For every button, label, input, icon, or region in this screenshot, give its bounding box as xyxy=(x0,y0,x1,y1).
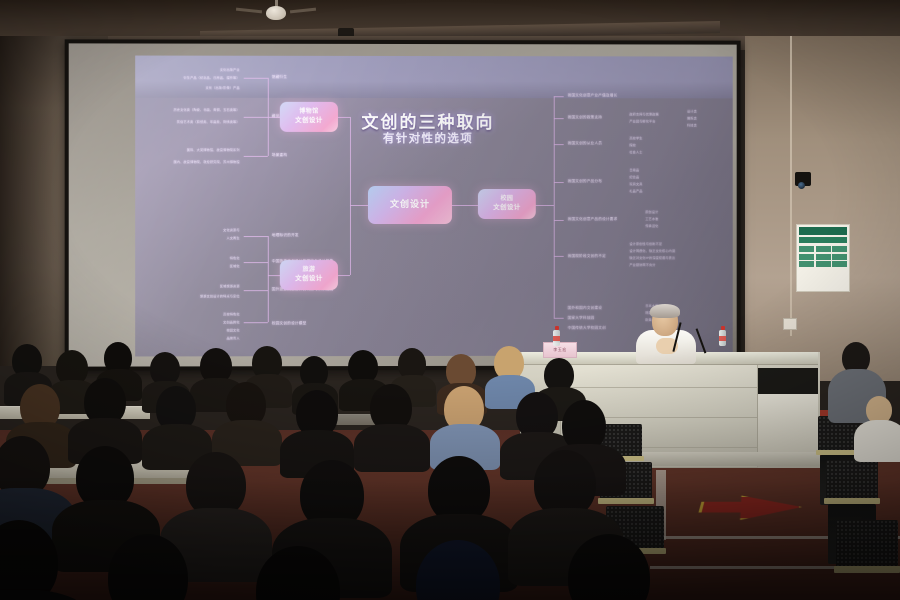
mindmap-node-tourism-line1: 旅游 xyxy=(302,267,315,275)
wall-poster xyxy=(796,224,850,292)
slide-text-r5-c3: 传承活化 xyxy=(645,224,658,228)
slide-text-bot-g2-l2: 区域化 xyxy=(175,264,239,268)
podium-recess xyxy=(756,368,818,394)
wire-top-g2 xyxy=(244,117,268,118)
slide-label-r1: 我国文化创意产业产值及增长 xyxy=(568,93,618,98)
slide-text-r2-g3: 科技类 xyxy=(687,123,697,127)
slide-text-r5-c1: 原创设计 xyxy=(645,210,658,214)
wire-bottom-group-spine xyxy=(268,236,269,322)
wire-to-top-node xyxy=(338,117,350,118)
mindmap-node-tourism: 旅游 文创设计 xyxy=(280,260,338,290)
wire-left-spine xyxy=(350,117,351,275)
slide-text-bot-g3-l1: 区域旅游资源 xyxy=(155,284,239,288)
wire-r7 xyxy=(554,318,564,319)
slide-text-r4-c2: 纪念品 xyxy=(629,175,639,179)
slide-text-r6-c3: 缺乏对文化IP的深度挖掘与表达 xyxy=(629,256,675,260)
slide-text-bot-g3-l2: 旅游文创设计的特点与定位 xyxy=(155,294,239,298)
podium-side-panel xyxy=(756,394,818,454)
wire-r2 xyxy=(554,118,564,119)
slide-label-r2: 我国文创的政策支持 xyxy=(568,115,602,120)
wire-bot-g3 xyxy=(244,290,268,291)
slide-text-r6-c1: 设计原创性与创新不足 xyxy=(629,242,662,246)
lecture-hall-photo: 文创的三种取向 有针对性的选项 xyxy=(0,0,900,600)
slide-label-r5: 我国文化创意产品的设计要求 xyxy=(568,217,618,222)
ceiling-fan-icon xyxy=(258,0,294,24)
slide-label-r6: 我国现阶段文创的不足 xyxy=(568,254,606,259)
wire-r5 xyxy=(554,220,564,221)
poster-title-bar xyxy=(799,227,847,235)
wire-center-right xyxy=(452,205,478,206)
slide-text-top-g1-i2: 衍生产品（纪念品、日用品、摆件等） xyxy=(151,76,239,80)
slide-text-r3-c2: 院校 xyxy=(629,143,636,147)
mindmap-node-campus-line1: 校园 xyxy=(500,196,513,203)
speaker-person xyxy=(634,306,698,360)
slide-text-r6-c4: 产业链协同不充分 xyxy=(629,263,655,267)
seat-back xyxy=(836,520,898,568)
wire-bot-g1 xyxy=(244,236,268,237)
slide-text-bot-g4-l3: 校园文化 xyxy=(179,328,239,332)
slide-text-r4-c4: 礼品产品 xyxy=(629,189,642,193)
cable-conduit xyxy=(790,36,792,336)
mindmap-center-node: 文创设计 xyxy=(368,186,452,224)
seat-armrest xyxy=(834,566,900,573)
water-bottle-left xyxy=(553,326,560,346)
wire-r3 xyxy=(554,144,564,145)
wall-right xyxy=(745,36,900,381)
slide-text-bot-g4-l2: 文创品牌化 xyxy=(179,320,239,324)
wire-center-left xyxy=(350,205,368,206)
slide-text-r4-c1: 日用品 xyxy=(629,168,639,172)
slide-text-bot-g1-l2: 人文再生 xyxy=(163,236,239,240)
speaker-hair xyxy=(650,304,680,318)
slide-label-r4: 我国文创的产品分布 xyxy=(568,179,602,184)
slide-text-r3-c1: 高校学生 xyxy=(629,136,642,140)
wire-r1 xyxy=(554,96,564,97)
wire-top-group-spine xyxy=(268,78,269,156)
slide-text-r2-c2: 产业园与孵化平台 xyxy=(629,119,655,123)
slide-label-r3: 我国文创的从业人员 xyxy=(568,141,602,146)
slide-label-r7: 国外和国内文创建设 xyxy=(568,306,602,311)
slide-text-top-g1-i3: 文化（出版/影像）产品 xyxy=(161,86,239,90)
slide-text-bot-g2-l1: 特色化 xyxy=(175,256,239,260)
wire-bot-g2 xyxy=(244,262,268,263)
slide-text-top-g3-i2: 国内、故宫博物院、敦煌研究院、苏州博物馆 xyxy=(147,160,239,164)
wire-bot-g4 xyxy=(244,322,268,323)
wire-top-g1 xyxy=(244,78,268,79)
slide-text-r3-c3: 社会人士 xyxy=(629,150,642,154)
mindmap-node-campus-line2: 文创设计 xyxy=(493,204,521,212)
water-bottle-right xyxy=(719,326,726,346)
power-socket xyxy=(783,318,797,330)
wire-bottomnode-left xyxy=(268,275,280,276)
name-card: 李玉宏 xyxy=(543,342,577,358)
mindmap-node-museum-line1: 博物馆 xyxy=(299,109,318,117)
wire-right-out xyxy=(536,205,554,206)
slide-text-top-g1-i1: 文化出版产业 xyxy=(161,68,239,72)
slide-label-bot-g1: 地理标识的开发 xyxy=(272,233,299,238)
poster-icon-grid xyxy=(799,246,847,267)
slide-text-bot-g4-l1: 高校特色化 xyxy=(179,312,239,316)
slide-label-top-g1: 馆藏衍生 xyxy=(272,75,287,80)
mindmap-node-tourism-line2: 文创设计 xyxy=(295,275,323,283)
slide-subtitle: 有针对性的选项 xyxy=(308,130,548,146)
name-card-text: 李玉宏 xyxy=(553,347,567,353)
slide-label-bot-g4: 校园文创的设计模型 xyxy=(272,321,307,326)
slide-label-top-g3: 场景重构 xyxy=(272,153,287,158)
seat-armrest xyxy=(598,498,654,504)
poster-subtitle-bar xyxy=(799,237,847,243)
slide-text-bot-g4-l4: 品牌育人 xyxy=(179,336,239,340)
wire-r4 xyxy=(554,182,564,183)
slide-text-r4-c3: 玩具文具 xyxy=(629,182,642,186)
mindmap-node-museum-line2: 文创设计 xyxy=(295,117,323,125)
slide-text-bot-g1-l1: 文化资源与 xyxy=(163,228,239,232)
wire-to-bottom-node xyxy=(338,275,350,276)
slide-text-top-g2-i2: 民俗艺术类（剪纸类、年画类、刺绣类等） xyxy=(151,120,239,124)
seat-back xyxy=(826,460,878,500)
slide-label-r7-s2: 中国传统大学校园文创 xyxy=(568,326,606,331)
mindmap-node-museum: 博物馆 文创设计 xyxy=(280,102,338,132)
mindmap-center-label: 文创设计 xyxy=(390,199,430,210)
security-camera-icon xyxy=(795,172,811,186)
slide-label-r7-s1: 国家大学科技园 xyxy=(568,316,595,321)
slide-text-r6-c2: 设计同质化、缺乏文化核心内涵 xyxy=(629,249,675,253)
wall-left-shadow xyxy=(0,36,64,366)
wire-top-g3 xyxy=(244,156,268,157)
slide-text-top-g2-i1: 历史文化类（陶瓷、书画、青铜、玉石类等） xyxy=(151,108,239,112)
slide-text-r2-c1: 政府支持与优惠政策 xyxy=(629,112,658,116)
slide-text-r2-g2: 展陈类 xyxy=(687,116,697,120)
slide-text-top-g3-i1: 国际、大英博物馆、故宫博物院系列 xyxy=(147,148,239,152)
wire-r6 xyxy=(554,256,564,257)
wire-right-spine xyxy=(554,96,555,318)
slide-text-r2-g1: 设计类 xyxy=(687,109,697,113)
mindmap-node-campus: 校园 文创设计 xyxy=(478,189,536,219)
slide-text-r5-c2: 工艺水准 xyxy=(645,217,658,221)
